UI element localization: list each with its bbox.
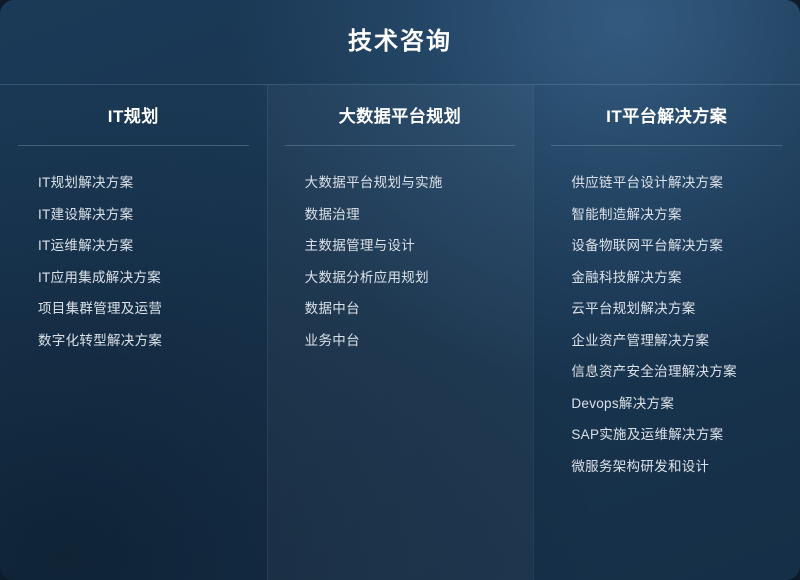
- list-item[interactable]: 大数据平台规划与实施: [305, 167, 518, 199]
- list-item[interactable]: IT规划解决方案: [38, 167, 251, 199]
- list-item[interactable]: 业务中台: [305, 325, 518, 357]
- list-item[interactable]: 信息资产安全治理解决方案: [571, 356, 784, 388]
- columns-container: IT规划 IT规划解决方案 IT建设解决方案 IT运维解决方案 IT应用集成解决…: [0, 85, 800, 580]
- panel-header: 技术咨询: [0, 0, 800, 84]
- column-it-planning: IT规划 IT规划解决方案 IT建设解决方案 IT运维解决方案 IT应用集成解决…: [0, 85, 267, 580]
- list-item[interactable]: 金融科技解决方案: [571, 262, 784, 294]
- list-item[interactable]: 数据中台: [305, 293, 518, 325]
- technical-consulting-panel: 技术咨询 IT规划 IT规划解决方案 IT建设解决方案 IT运维解决方案 IT应…: [0, 0, 800, 580]
- list-item[interactable]: IT应用集成解决方案: [38, 262, 251, 294]
- column-item-list: 供应链平台设计解决方案 智能制造解决方案 设备物联网平台解决方案 金融科技解决方…: [533, 146, 800, 482]
- list-item[interactable]: 主数据管理与设计: [305, 230, 518, 262]
- list-item[interactable]: 数据治理: [305, 199, 518, 231]
- list-item[interactable]: 供应链平台设计解决方案: [571, 167, 784, 199]
- list-item[interactable]: 项目集群管理及运营: [38, 293, 251, 325]
- list-item[interactable]: 设备物联网平台解决方案: [571, 230, 784, 262]
- column-title: IT平台解决方案: [533, 107, 800, 127]
- list-item[interactable]: 云平台规划解决方案: [571, 293, 784, 325]
- list-item[interactable]: 数字化转型解决方案: [38, 325, 251, 357]
- list-item[interactable]: IT建设解决方案: [38, 199, 251, 231]
- list-item[interactable]: Devops解决方案: [571, 388, 784, 420]
- column-bigdata-platform-planning: 大数据平台规划 大数据平台规划与实施 数据治理 主数据管理与设计 大数据分析应用…: [267, 85, 534, 580]
- column-item-list: 大数据平台规划与实施 数据治理 主数据管理与设计 大数据分析应用规划 数据中台 …: [267, 146, 534, 356]
- list-item[interactable]: 大数据分析应用规划: [305, 262, 518, 294]
- list-item[interactable]: IT运维解决方案: [38, 230, 251, 262]
- column-title: IT规划: [0, 107, 267, 127]
- list-item[interactable]: 智能制造解决方案: [571, 199, 784, 231]
- list-item[interactable]: 企业资产管理解决方案: [571, 325, 784, 357]
- column-item-list: IT规划解决方案 IT建设解决方案 IT运维解决方案 IT应用集成解决方案 项目…: [0, 146, 267, 356]
- header-divider: [0, 84, 800, 85]
- list-item[interactable]: SAP实施及运维解决方案: [571, 419, 784, 451]
- page-title: 技术咨询: [348, 30, 452, 54]
- column-it-platform-solutions: IT平台解决方案 供应链平台设计解决方案 智能制造解决方案 设备物联网平台解决方…: [533, 85, 800, 580]
- list-item[interactable]: 微服务架构研发和设计: [571, 451, 784, 483]
- column-title: 大数据平台规划: [267, 107, 534, 127]
